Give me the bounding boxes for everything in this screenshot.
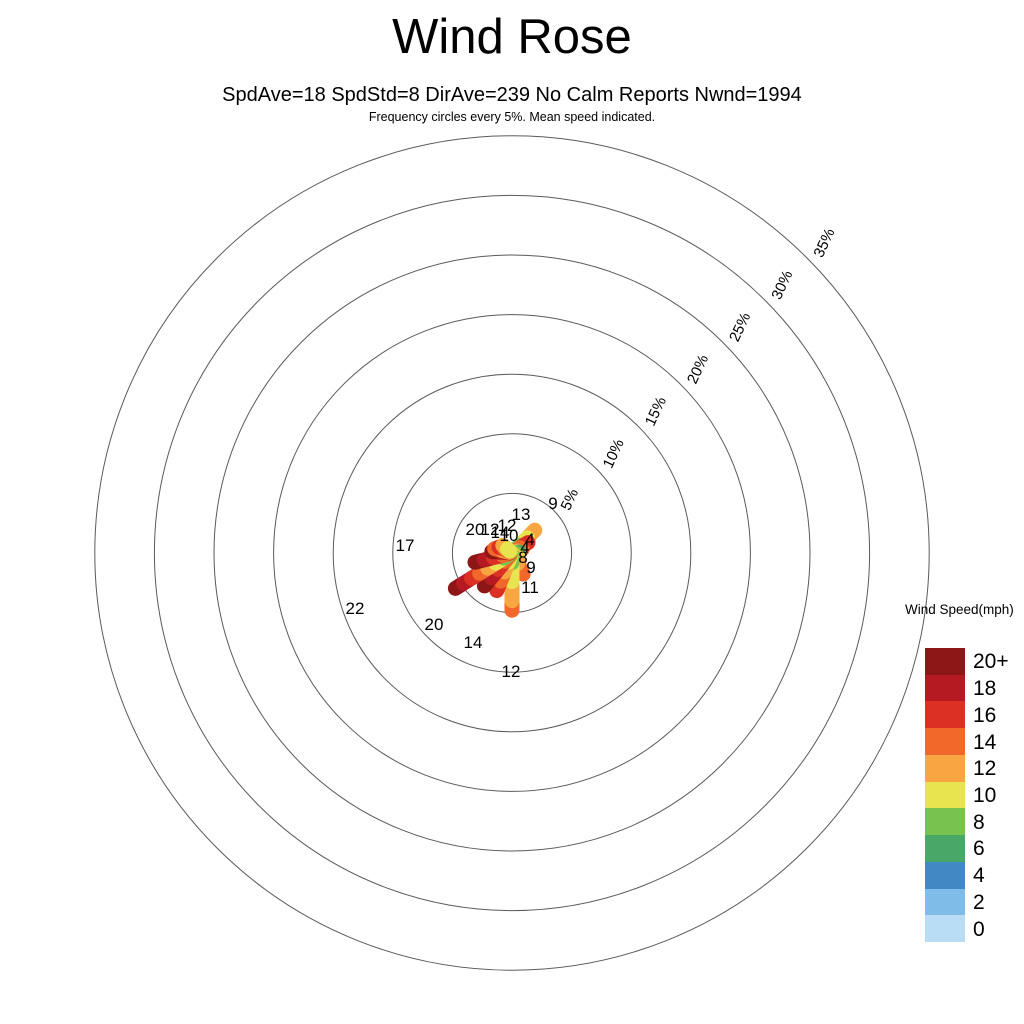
legend-label: 14 (973, 732, 996, 753)
ring-label: 35% (810, 226, 838, 260)
ring-label: 25% (726, 310, 754, 344)
petal-mean-speed-label: 17 (396, 536, 415, 555)
petal-mean-speed-label: 12 (502, 662, 521, 681)
legend-label: 10 (973, 785, 996, 806)
legend-label: 18 (973, 678, 996, 699)
legend-swatch (925, 648, 965, 675)
legend-label: 4 (973, 865, 985, 886)
legend-swatch (925, 782, 965, 809)
legend-label: 12 (973, 758, 996, 779)
petal-mean-speed-label: 14 (464, 633, 483, 652)
wind-rose-page: Wind Rose SpdAve=18 SpdStd=8 DirAve=239 … (0, 0, 1024, 1024)
petal-mean-speed-label: 20 (425, 615, 444, 634)
legend-swatch (925, 862, 965, 889)
petal-mean-speed-label: 9 (548, 494, 557, 513)
ring-labels: 5%10%15%20%25%30%35% (558, 226, 839, 513)
ring-label: 30% (768, 268, 796, 302)
legend-swatch (925, 889, 965, 916)
petal-mean-speed-label: 22 (346, 599, 365, 618)
legend-swatch (925, 755, 965, 782)
legend-title: Wind Speed(mph) (905, 602, 1014, 617)
legend-swatch (925, 808, 965, 835)
legend-swatch (925, 675, 965, 702)
legend-swatch (925, 701, 965, 728)
petal-mean-speed-label: 10 (500, 526, 519, 545)
legend-swatch (925, 728, 965, 755)
legend-label: 8 (973, 812, 985, 833)
ring-label: 20% (684, 352, 712, 386)
ring-label: 15% (642, 394, 670, 428)
legend-label: 6 (973, 838, 985, 859)
ring-label: 5% (558, 486, 583, 513)
ring-label: 10% (600, 436, 628, 470)
wind-rose-plot: 5%10%15%20%25%30%35% 9131244891112142022… (0, 0, 1024, 1024)
legend-label: 20+ (973, 651, 1009, 672)
petal-segment (507, 549, 509, 551)
legend-swatch (925, 915, 965, 942)
legend-label: 0 (973, 919, 985, 940)
legend-label: 16 (973, 705, 996, 726)
legend-swatch (925, 835, 965, 862)
wind-speed-legend: 20+181614121086420 (925, 648, 1024, 942)
petal-mean-speed-label: 9 (526, 558, 535, 577)
legend-label: 2 (973, 892, 985, 913)
petal-mean-speed-label: 11 (521, 578, 539, 597)
